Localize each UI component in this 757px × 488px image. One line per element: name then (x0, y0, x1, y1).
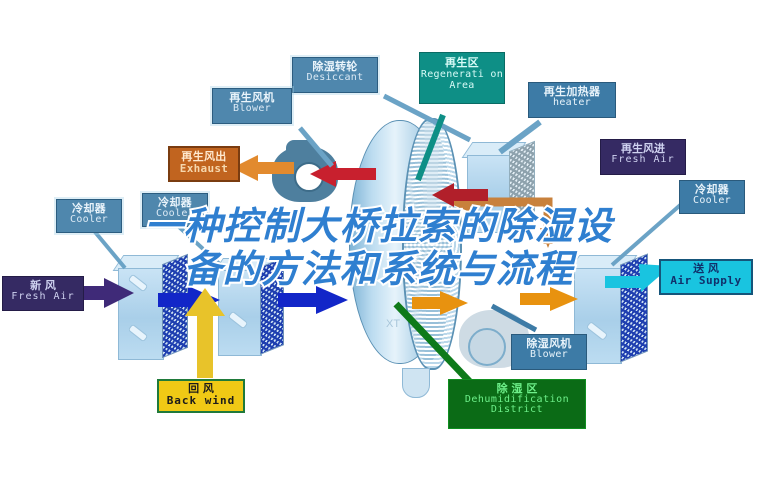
label-exhaust[interactable]: 再生风出 Exhaust (168, 146, 240, 182)
label-regeneration-heater[interactable]: 再生加热器 heater (528, 82, 616, 118)
label-cooler-middle-cn: 冷却器 (143, 197, 207, 209)
label-desiccant[interactable]: 除湿转轮 Desiccant (292, 57, 378, 93)
label-cooler-left[interactable]: 冷却器 Cooler (56, 199, 122, 233)
label-back-wind-en: Back wind (159, 395, 243, 407)
leader-lines (0, 0, 757, 488)
label-air-supply-cn: 送 风 (661, 263, 751, 275)
label-regeneration-blower[interactable]: 再生风机 Blower (212, 88, 292, 124)
label-cooler-right[interactable]: 冷却器 Cooler (679, 180, 745, 214)
label-dehumidification-blower[interactable]: 除湿风机 Blower (511, 334, 587, 370)
label-fresh-air[interactable]: 新 风 Fresh Air (2, 276, 84, 311)
diagram-canvas: XT (0, 0, 757, 488)
label-regeneration-air-in[interactable]: 再生风进 Fresh Air (600, 139, 686, 175)
label-dehumidification-district[interactable]: 除 湿 区 Dehumidification District (448, 379, 586, 429)
label-exhaust-en: Exhaust (170, 163, 238, 175)
label-regeneration-area-cn: 再生区 (420, 57, 504, 69)
label-back-wind-cn: 回 风 (159, 383, 243, 395)
label-air-supply-en: Air Supply (661, 275, 751, 287)
label-regeneration-area[interactable]: 再生区 Regenerati on Area (419, 52, 505, 104)
label-cooler-right-en: Cooler (680, 196, 744, 207)
label-cooler-right-cn: 冷却器 (680, 184, 744, 196)
label-regeneration-heater-en: heater (529, 98, 615, 109)
label-fresh-air-en: Fresh Air (3, 292, 83, 303)
label-dehumidification-blower-cn: 除湿风机 (512, 338, 586, 350)
label-regeneration-air-in-cn: 再生风进 (601, 143, 685, 155)
label-cooler-left-en: Cooler (57, 215, 121, 226)
label-regeneration-area-en: Regenerati on Area (420, 69, 504, 92)
label-cooler-left-cn: 冷却器 (57, 203, 121, 215)
label-exhaust-cn: 再生风出 (170, 151, 238, 163)
label-desiccant-en: Desiccant (293, 73, 377, 84)
label-regeneration-air-in-en: Fresh Air (601, 155, 685, 166)
label-fresh-air-cn: 新 风 (3, 280, 83, 292)
label-air-supply[interactable]: 送 风 Air Supply (659, 259, 753, 295)
label-back-wind[interactable]: 回 风 Back wind (157, 379, 245, 413)
label-regeneration-blower-cn: 再生风机 (213, 92, 291, 104)
label-dehumidification-blower-en: Blower (512, 350, 586, 361)
label-dehumidification-district-cn: 除 湿 区 (449, 383, 585, 395)
label-desiccant-cn: 除湿转轮 (293, 61, 377, 73)
label-regeneration-blower-en: Blower (213, 104, 291, 115)
label-cooler-middle[interactable]: 冷却器 Cooler (142, 193, 208, 227)
label-regeneration-heater-cn: 再生加热器 (529, 86, 615, 98)
label-cooler-middle-en: Cooler (143, 209, 207, 220)
label-dehumidification-district-en2: District (449, 405, 585, 416)
